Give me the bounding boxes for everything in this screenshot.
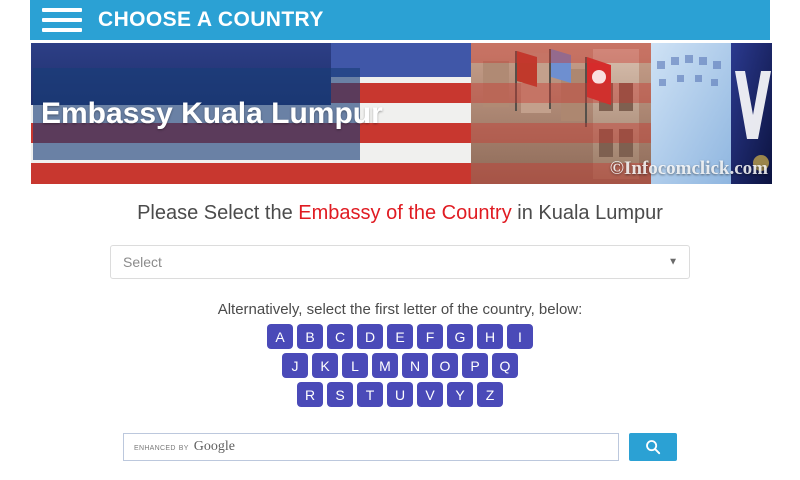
- country-select-value: Select: [123, 254, 162, 270]
- letter-button-k[interactable]: K: [312, 353, 338, 378]
- main-content: Please Select the Embassy of the Country…: [0, 190, 800, 461]
- banner-title: Embassy Kuala Lumpur: [41, 97, 383, 131]
- watermark-text: ©Infocomclick.com: [610, 158, 768, 180]
- search-placeholder-brand: Google: [194, 439, 235, 455]
- search-button[interactable]: [629, 433, 677, 461]
- letter-button-r[interactable]: R: [297, 382, 323, 407]
- heading-text-after: in Kuala Lumpur: [512, 202, 663, 224]
- letter-button-u[interactable]: U: [387, 382, 413, 407]
- letter-button-s[interactable]: S: [327, 382, 353, 407]
- alphabet-button-grid: A B C D E F G H I J K L M N O P Q R: [0, 324, 800, 407]
- letter-button-a[interactable]: A: [267, 324, 293, 349]
- hamburger-bar-2: [42, 18, 82, 22]
- country-select-dropdown[interactable]: Select: [110, 245, 690, 279]
- letter-button-b[interactable]: B: [297, 324, 323, 349]
- letter-button-y[interactable]: Y: [447, 382, 473, 407]
- banner-title-overlay: Embassy Kuala Lumpur: [33, 68, 360, 160]
- letter-button-j[interactable]: J: [282, 353, 308, 378]
- letter-button-p[interactable]: P: [462, 353, 488, 378]
- heading-text-before: Please Select the: [137, 202, 298, 224]
- letter-button-f[interactable]: F: [417, 324, 443, 349]
- search-icon: [645, 439, 661, 455]
- letter-row-3: R S T U V Y Z: [0, 382, 800, 407]
- letter-button-g[interactable]: G: [447, 324, 473, 349]
- letter-row-1: A B C D E F G H I: [0, 324, 800, 349]
- letter-button-l[interactable]: L: [342, 353, 368, 378]
- top-header-bar: CHOOSE A COUNTRY: [30, 0, 770, 40]
- letter-button-n[interactable]: N: [402, 353, 428, 378]
- letter-button-z[interactable]: Z: [477, 382, 503, 407]
- google-search-row: enhanced by Google: [0, 433, 800, 461]
- letter-button-q[interactable]: Q: [492, 353, 518, 378]
- hamburger-bar-3: [42, 28, 82, 32]
- letter-button-m[interactable]: M: [372, 353, 398, 378]
- heading-text-accent: Embassy of the Country: [298, 202, 511, 224]
- alternative-instruction-text: Alternatively, select the first letter o…: [0, 301, 800, 318]
- page-root: CHOOSE A COUNTRY: [0, 0, 800, 480]
- letter-row-2: J K L M N O P Q: [0, 353, 800, 378]
- letter-button-e[interactable]: E: [387, 324, 413, 349]
- letter-button-c[interactable]: C: [327, 324, 353, 349]
- hero-banner: Embassy Kuala Lumpur ©Infocomclick.com: [31, 43, 772, 184]
- letter-button-h[interactable]: H: [477, 324, 503, 349]
- letter-button-o[interactable]: O: [432, 353, 458, 378]
- page-title: CHOOSE A COUNTRY: [98, 8, 324, 32]
- search-placeholder-prefix: enhanced by: [134, 442, 189, 453]
- hamburger-bar-1: [42, 8, 82, 12]
- hamburger-menu-icon[interactable]: [42, 6, 82, 34]
- country-select-wrapper: Select ▼: [110, 245, 690, 279]
- letter-button-d[interactable]: D: [357, 324, 383, 349]
- search-input[interactable]: enhanced by Google: [123, 433, 619, 461]
- select-instruction-heading: Please Select the Embassy of the Country…: [0, 202, 800, 225]
- letter-button-v[interactable]: V: [417, 382, 443, 407]
- letter-button-i[interactable]: I: [507, 324, 533, 349]
- letter-button-t[interactable]: T: [357, 382, 383, 407]
